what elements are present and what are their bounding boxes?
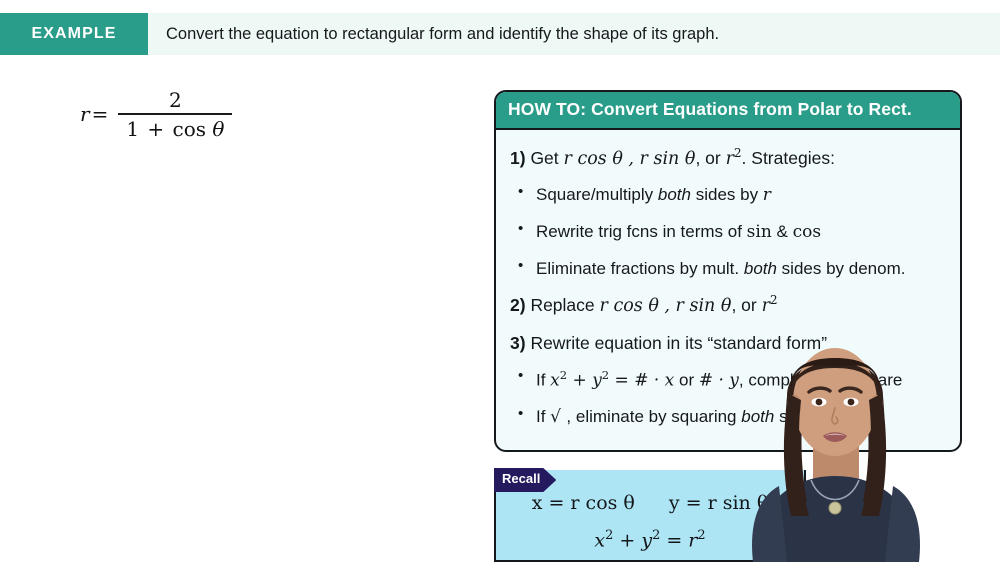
step-2-math-b-exponent: 2 — [770, 293, 778, 307]
denominator-one: 1 — [126, 117, 139, 141]
bullet-4-math-eq: = # · x — [609, 371, 674, 391]
equation-denominator: 1 + cos θ — [118, 115, 232, 141]
recall-formula-pythagorean: x2 + y2 = r2 — [594, 528, 705, 551]
step-1-math-b-exponent: 2 — [734, 146, 742, 160]
bullet-5-radical-icon: √ — [550, 407, 566, 427]
step-2-math-a: r cos θ , r sin θ — [600, 296, 732, 316]
step-2-math-b: r — [762, 296, 770, 316]
step-1-math-b: r — [726, 149, 734, 169]
bullet-2-mid: & — [772, 222, 793, 241]
pyth-x: x — [594, 529, 605, 551]
bullet-1-lead: Square/multiply — [536, 185, 658, 204]
bullet-3-tail: sides by denom. — [777, 259, 906, 278]
example-badge-label: EXAMPLE — [31, 25, 116, 43]
howto-step-2: 2) Replace r cos θ , r sin θ, or r2 — [506, 286, 950, 324]
step-2-text-a: Replace — [530, 295, 599, 315]
howto-step-1-bullet-2: Rewrite trig fcns in terms of sin & cos — [506, 214, 950, 251]
bullet-4-math-b: # · y — [699, 371, 739, 391]
bullet-2-math-sin: sin — [747, 222, 772, 242]
bullet-2-lead: Rewrite trig fcns in terms of — [536, 222, 747, 241]
pyth-r-exponent: 2 — [697, 528, 705, 543]
pyth-plus: + — [613, 529, 641, 551]
example-banner: EXAMPLE Convert the equation to rectangu… — [0, 13, 1000, 55]
bullet-3-emphasis: both — [744, 259, 777, 278]
equation-fraction: 2 1 + cos θ — [118, 88, 232, 141]
bullet-1-tail: sides by — [691, 185, 763, 204]
bullet-2-math-cos: cos — [793, 222, 821, 242]
bullet-5-tail: , eliminate by squaring — [566, 407, 741, 426]
pyth-r: r — [688, 529, 697, 551]
bullet-5-lead: If — [536, 407, 550, 426]
denominator-cos: cos — [173, 117, 207, 141]
step-1-number: 1) — [510, 148, 526, 168]
equation-equals: = — [90, 102, 111, 126]
step-1-text-c: . Strategies: — [742, 148, 835, 168]
bullet-3-lead: Eliminate fractions by mult. — [536, 259, 744, 278]
bullet-4-math-plus: + — [567, 371, 592, 391]
howto-box-title: HOW TO: Convert Equations from Polar to … — [496, 92, 960, 130]
bullet-4-math-x: x — [550, 371, 560, 391]
recall-formula-x: x = r cos θ — [532, 492, 635, 514]
bullet-1-math-tail: r — [763, 185, 771, 205]
problem-equation: r = 2 1 + cos θ — [80, 88, 232, 141]
step-3-number: 3) — [510, 333, 526, 353]
bullet-4-mid: or — [674, 371, 699, 390]
bullet-1-emphasis: both — [658, 185, 691, 204]
howto-step-1-bullet-1: Square/multiply both sides by r — [506, 177, 950, 214]
bullet-4-lead: If — [536, 371, 550, 390]
equation-lhs: r — [80, 102, 90, 126]
howto-step-1-bullet-3: Eliminate fractions by mult. both sides … — [506, 251, 950, 287]
bullet-4-math-y: y — [592, 371, 602, 391]
presenter-video-overlay — [735, 330, 1000, 562]
denominator-plus: + — [145, 117, 166, 141]
recall-tab-label: Recall — [502, 471, 540, 486]
howto-step-1: 1) Get r cos θ , r sin θ, or r2. Strateg… — [506, 139, 950, 177]
step-1-text-b: , or — [695, 148, 725, 168]
step-1-math-a: r cos θ , r sin θ — [564, 149, 696, 169]
example-prompt-text: Convert the equation to rectangular form… — [148, 13, 719, 55]
denominator-theta: θ — [212, 117, 224, 141]
example-badge: EXAMPLE — [0, 13, 148, 55]
equation-numerator: 2 — [161, 88, 190, 113]
step-1-text-a: Get — [530, 148, 563, 168]
pyth-equals: = — [660, 529, 688, 551]
step-2-text-b: , or — [731, 295, 761, 315]
step-2-number: 2) — [510, 295, 526, 315]
pyth-y: y — [641, 529, 652, 551]
presenter-illustration — [735, 330, 1000, 562]
recall-tab: Recall — [494, 468, 556, 492]
